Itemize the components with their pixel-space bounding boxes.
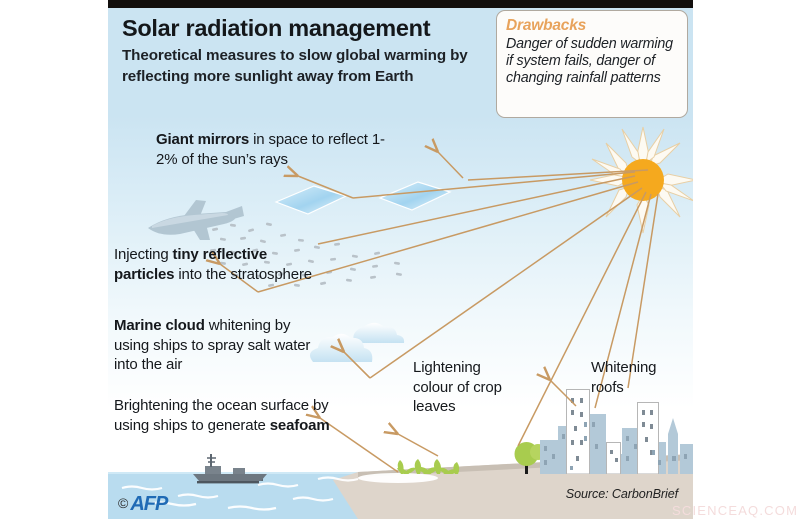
page-title: Solar radiation management bbox=[122, 14, 502, 42]
source-credit: Source: CarbonBrief bbox=[108, 487, 678, 501]
afp-wordmark: AFP bbox=[130, 493, 167, 515]
drawbacks-text: Danger of sudden warming if system fails… bbox=[506, 36, 678, 88]
page-subtitle: Theoretical measures to slow global warm… bbox=[122, 46, 522, 87]
label-giant-mirrors: Giant mirrors in space to reflect 1-2% o… bbox=[156, 130, 386, 169]
label-particles: Injecting tiny reflective particles into… bbox=[114, 245, 314, 284]
label-giant-mirrors-bold: Giant mirrors bbox=[156, 131, 249, 148]
label-particles-rest: into the stratosphere bbox=[174, 266, 312, 283]
figure-frame: Solar radiation management Theoretical m… bbox=[108, 0, 693, 519]
label-seafoam: Brightening the ocean surface by using s… bbox=[114, 396, 354, 435]
label-whitening-roofs: Whitening roofs bbox=[591, 358, 691, 397]
infographic-canvas: Solar radiation management Theoretical m… bbox=[0, 0, 800, 530]
drawbacks-heading: Drawbacks bbox=[506, 17, 678, 35]
drawbacks-box: Drawbacks Danger of sudden warming if sy… bbox=[496, 10, 688, 118]
label-seafoam-bold: seafoam bbox=[270, 417, 330, 434]
top-black-bar bbox=[108, 0, 693, 8]
label-crop-leaves: Lightening colour of crop leaves bbox=[413, 358, 505, 417]
site-watermark: SCIENCEAQ.COM bbox=[672, 503, 798, 518]
copyright-symbol: © bbox=[118, 495, 128, 511]
label-particles-lead: Injecting bbox=[114, 246, 173, 263]
afp-logo: ©AFP bbox=[118, 493, 167, 516]
label-marine-cloud-bold: Marine cloud bbox=[114, 317, 205, 334]
label-marine-cloud: Marine cloud whitening by using ships to… bbox=[114, 316, 324, 375]
